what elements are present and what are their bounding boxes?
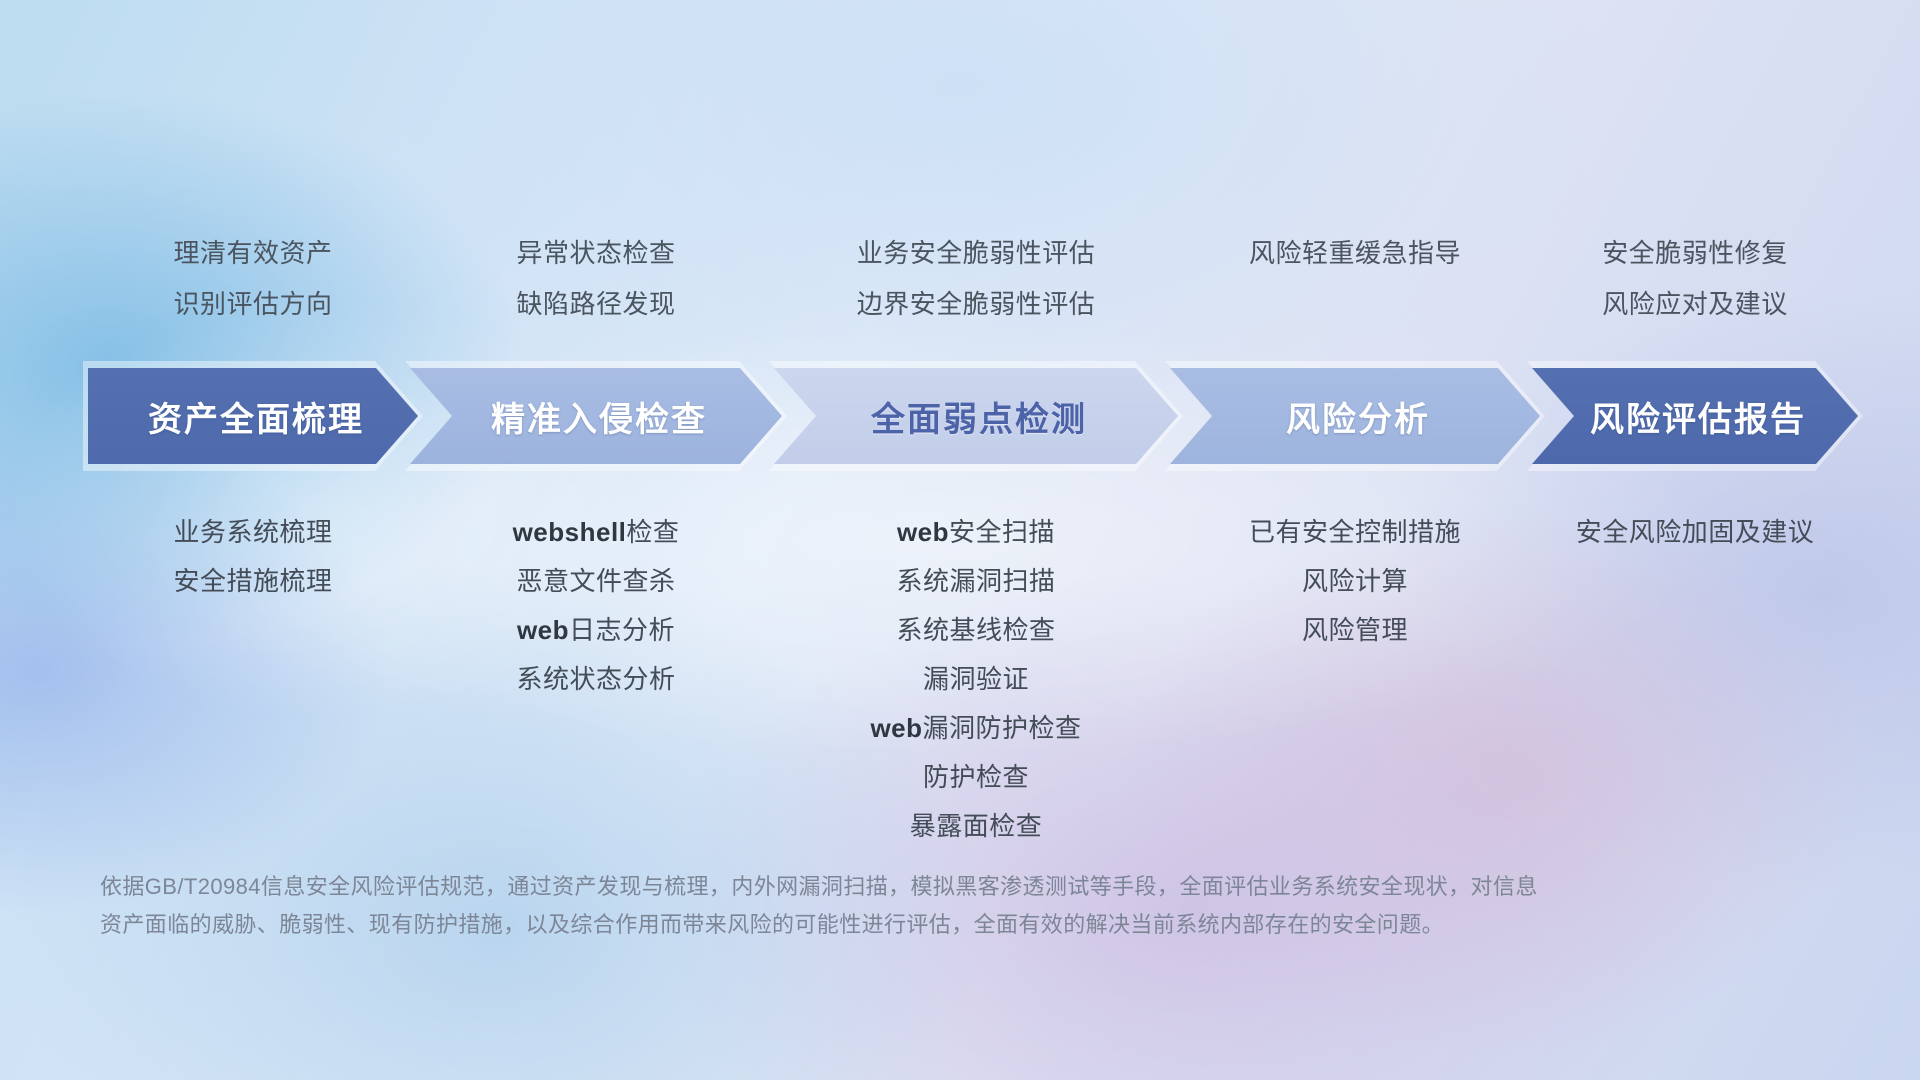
list-item: 系统基线检查 — [786, 606, 1166, 655]
list-item-text: 暴露面检查 — [910, 811, 1043, 841]
top-labels-intrusion-check: 异常状态检查缺陷路径发现 — [415, 228, 777, 330]
top-labels-asset-inventory: 理清有效资产识别评估方向 — [41, 228, 466, 330]
chevron-intrusion-check[interactable]: 精准入侵检查 — [410, 368, 782, 464]
footer-description: 依据GB/T20984信息安全风险评估规范，通过资产发现与梳理，内外网漏洞扫描，… — [100, 868, 1660, 944]
stage-bottom-lists-row: 业务系统梳理安全措施梳理webshell检查恶意文件查杀web日志分析系统状态分… — [0, 508, 1920, 851]
footer-line: 依据GB/T20984信息安全风险评估规范，通过资产发现与梳理，内外网漏洞扫描，… — [100, 868, 1660, 906]
list-item: 系统漏洞扫描 — [786, 557, 1166, 606]
chevron-label: 风险评估报告 — [1584, 392, 1806, 441]
list-item: web安全扫描 — [786, 508, 1166, 557]
list-item: 暴露面检查 — [786, 802, 1166, 851]
list-item-text: 漏洞防护检查 — [923, 713, 1082, 743]
chevron-label: 风险分析 — [1280, 392, 1430, 441]
top-label-item: 异常状态检查 — [415, 228, 777, 279]
list-item-text: 安全风险加固及建议 — [1576, 517, 1815, 547]
list-item: 恶意文件查杀 — [415, 557, 777, 606]
top-labels-risk-report: 安全脆弱性修复风险应对及建议 — [1498, 228, 1893, 330]
list-item: 风险管理 — [1175, 606, 1535, 655]
top-label-item: 识别评估方向 — [41, 279, 466, 330]
list-item: 防护检查 — [786, 753, 1166, 802]
list-item: web漏洞防护检查 — [786, 704, 1166, 753]
top-labels-weakness-detection: 业务安全脆弱性评估边界安全脆弱性评估 — [786, 228, 1166, 330]
list-item-text: 风险管理 — [1302, 615, 1408, 645]
top-label-item: 安全脆弱性修复 — [1498, 228, 1893, 279]
list-item-lead: webshell — [513, 517, 627, 547]
process-diagram: 理清有效资产识别评估方向异常状态检查缺陷路径发现业务安全脆弱性评估边界安全脆弱性… — [0, 0, 1920, 1080]
top-label-item: 理清有效资产 — [41, 228, 466, 279]
chevron-label: 资产全面梳理 — [142, 392, 364, 441]
chevron-risk-report[interactable]: 风险评估报告 — [1532, 368, 1858, 464]
list-item-text: 漏洞验证 — [923, 664, 1029, 694]
chevron-asset-inventory[interactable]: 资产全面梳理 — [88, 368, 418, 464]
bottom-list-intrusion-check: webshell检查恶意文件查杀web日志分析系统状态分析 — [415, 508, 777, 704]
list-item-text: 系统状态分析 — [516, 664, 675, 694]
chevron-label: 全面弱点检测 — [865, 392, 1087, 441]
top-labels-risk-analysis: 风险轻重缓急指导 — [1175, 228, 1535, 330]
list-item-text: 防护检查 — [923, 762, 1029, 792]
list-item: 已有安全控制措施 — [1175, 508, 1535, 557]
top-label-item: 边界安全脆弱性评估 — [786, 279, 1166, 330]
chevron-label: 精准入侵检查 — [485, 392, 707, 441]
list-item-text: 系统基线检查 — [896, 615, 1055, 645]
chevron-weakness-detection[interactable]: 全面弱点检测 — [774, 368, 1178, 464]
top-label-item: 业务安全脆弱性评估 — [786, 228, 1166, 279]
list-item: 漏洞验证 — [786, 655, 1166, 704]
list-item-lead: web — [517, 615, 569, 645]
stage-top-labels-row: 理清有效资产识别评估方向异常状态检查缺陷路径发现业务安全脆弱性评估边界安全脆弱性… — [0, 228, 1920, 330]
bottom-list-risk-analysis: 已有安全控制措施风险计算风险管理 — [1175, 508, 1535, 655]
list-item: 安全风险加固及建议 — [1498, 508, 1893, 557]
list-item-text: 已有安全控制措施 — [1249, 517, 1461, 547]
top-label-item: 风险轻重缓急指导 — [1175, 228, 1535, 279]
list-item-text: 恶意文件查杀 — [516, 566, 675, 596]
footer-line: 资产面临的威胁、脆弱性、现有防护措施，以及综合作用而带来风险的可能性进行评估，全… — [100, 906, 1660, 944]
list-item-text: 检查 — [626, 517, 679, 547]
top-label-item: 缺陷路径发现 — [415, 279, 777, 330]
list-item: webshell检查 — [415, 508, 777, 557]
list-item-lead: web — [897, 517, 949, 547]
list-item: 风险计算 — [1175, 557, 1535, 606]
list-item: web日志分析 — [415, 606, 777, 655]
bottom-list-weakness-detection: web安全扫描系统漏洞扫描系统基线检查漏洞验证web漏洞防护检查防护检查暴露面检… — [786, 508, 1166, 851]
list-item-text: 安全措施梳理 — [173, 566, 332, 596]
list-item-text: 日志分析 — [569, 615, 675, 645]
list-item-lead: web — [870, 713, 922, 743]
list-item-text: 业务系统梳理 — [173, 517, 332, 547]
list-item-text: 安全扫描 — [949, 517, 1055, 547]
bottom-list-asset-inventory: 业务系统梳理安全措施梳理 — [41, 508, 466, 606]
list-item: 业务系统梳理 — [41, 508, 466, 557]
list-item-text: 系统漏洞扫描 — [896, 566, 1055, 596]
chevron-risk-analysis[interactable]: 风险分析 — [1170, 368, 1540, 464]
list-item-text: 风险计算 — [1302, 566, 1408, 596]
top-label-item: 风险应对及建议 — [1498, 279, 1893, 330]
list-item: 安全措施梳理 — [41, 557, 466, 606]
bottom-list-risk-report: 安全风险加固及建议 — [1498, 508, 1893, 557]
process-chevron-band: 资产全面梳理精准入侵检查全面弱点检测风险分析风险评估报告 — [88, 368, 1858, 464]
list-item: 系统状态分析 — [415, 655, 777, 704]
